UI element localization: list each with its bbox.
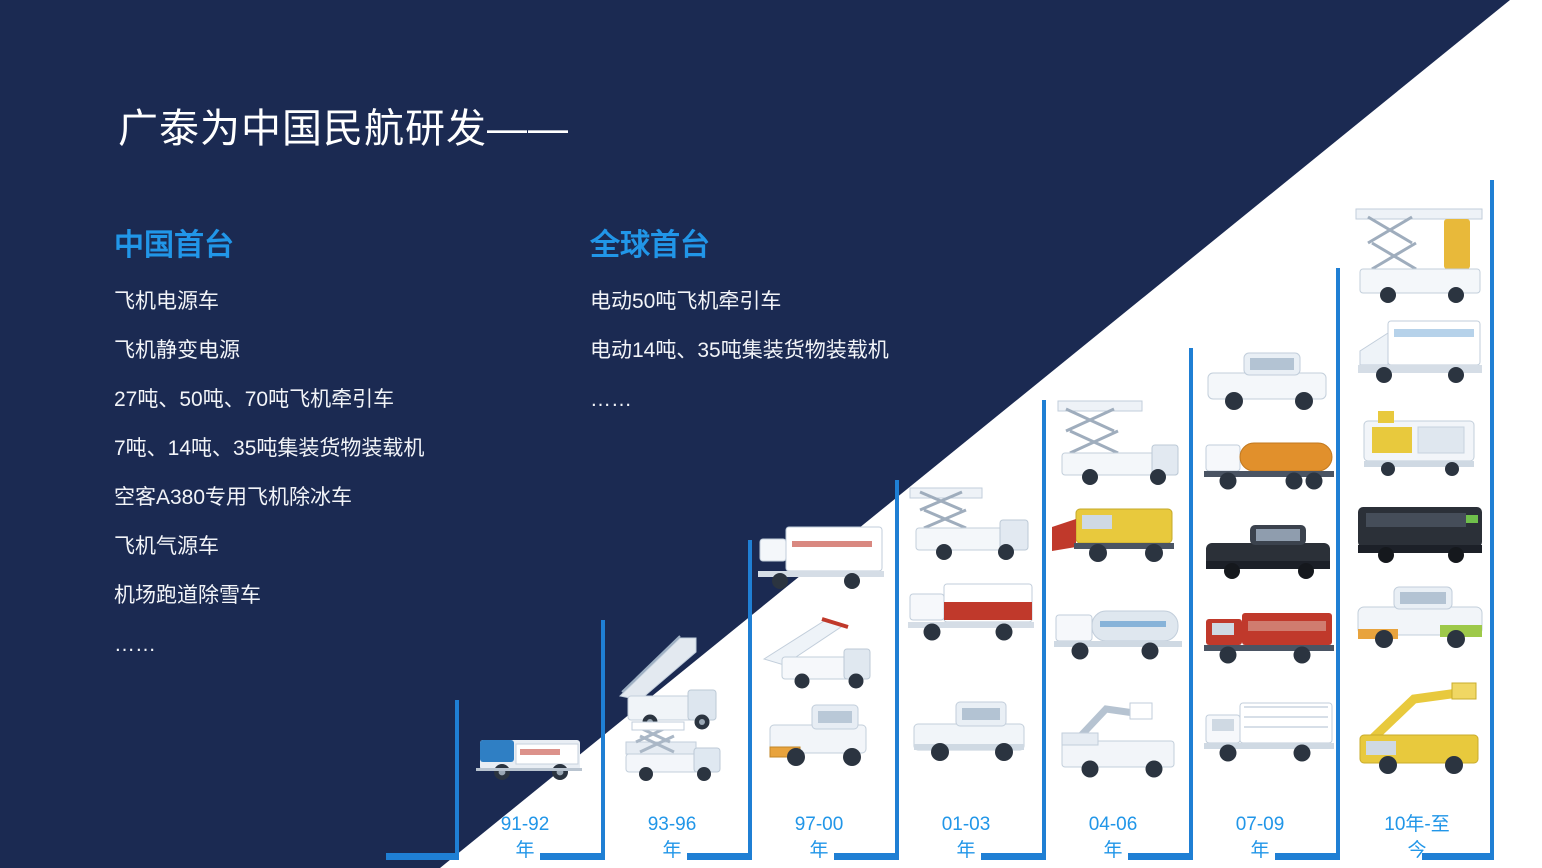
list-item: 飞机静变电源	[114, 326, 424, 375]
timeline-tick-4	[1042, 400, 1046, 860]
timeline-tick-1	[601, 620, 605, 860]
vehicle-photo-group-93-96	[606, 600, 746, 795]
vehicle-photo-group-07-09	[1198, 345, 1348, 790]
timeline-tick-5	[1189, 348, 1193, 860]
timeline-label-93-96: 93-96 年	[612, 812, 732, 864]
page-title: 广泰为中国民航研发——	[118, 96, 569, 154]
vehicle-photo-group-01-03	[900, 470, 1050, 790]
list-item: ……	[590, 375, 889, 424]
timeline-tick-6	[1336, 268, 1340, 860]
timeline-tick-0	[455, 700, 459, 860]
timeline-tick-3	[895, 480, 899, 860]
list-item: 7吨、14吨、35吨集装货物装载机	[114, 424, 424, 473]
timeline-label-01-03: 01-03 年	[906, 812, 1026, 864]
list-item: 飞机气源车	[114, 522, 424, 571]
list-item: 电动50吨飞机牵引车	[590, 277, 889, 326]
timeline-tick-2	[748, 540, 752, 860]
list-item: ……	[114, 620, 424, 669]
china-first-list: 飞机电源车 飞机静变电源 27吨、50吨、70吨飞机牵引车 7吨、14吨、35吨…	[114, 277, 424, 669]
vehicle-photo-group-91-92	[460, 722, 595, 792]
vehicle-photo-group-10-present	[1348, 205, 1498, 790]
list-item: 27吨、50吨、70吨飞机牵引车	[114, 375, 424, 424]
list-item: 电动14吨、35吨集装货物装载机	[590, 326, 889, 375]
slide-canvas: 广泰为中国民航研发—— 中国首台 全球首台 飞机电源车 飞机静变电源 27吨、5…	[0, 0, 1542, 868]
column-heading-global-first: 全球首台	[590, 220, 710, 264]
timeline-label-91-92: 91-92 年	[465, 812, 585, 864]
list-item: 机场跑道除雪车	[114, 571, 424, 620]
timeline-label-04-06: 04-06 年	[1053, 812, 1173, 864]
timeline-tick-7	[1490, 180, 1494, 860]
column-heading-china-first: 中国首台	[114, 220, 234, 264]
list-item: 飞机电源车	[114, 277, 424, 326]
vehicle-photo-group-97-00	[752, 525, 902, 790]
timeline-label-97-00: 97-00 年	[759, 812, 879, 864]
timeline-label-10-present: 10年-至 今	[1347, 812, 1487, 864]
timeline-label-07-09: 07-09 年	[1200, 812, 1320, 864]
global-first-list: 电动50吨飞机牵引车 电动14吨、35吨集装货物装载机 ……	[590, 277, 889, 424]
timeline-baseline-0	[386, 853, 456, 860]
list-item: 空客A380专用飞机除冰车	[114, 473, 424, 522]
vehicle-photo-group-04-06	[1048, 395, 1198, 790]
